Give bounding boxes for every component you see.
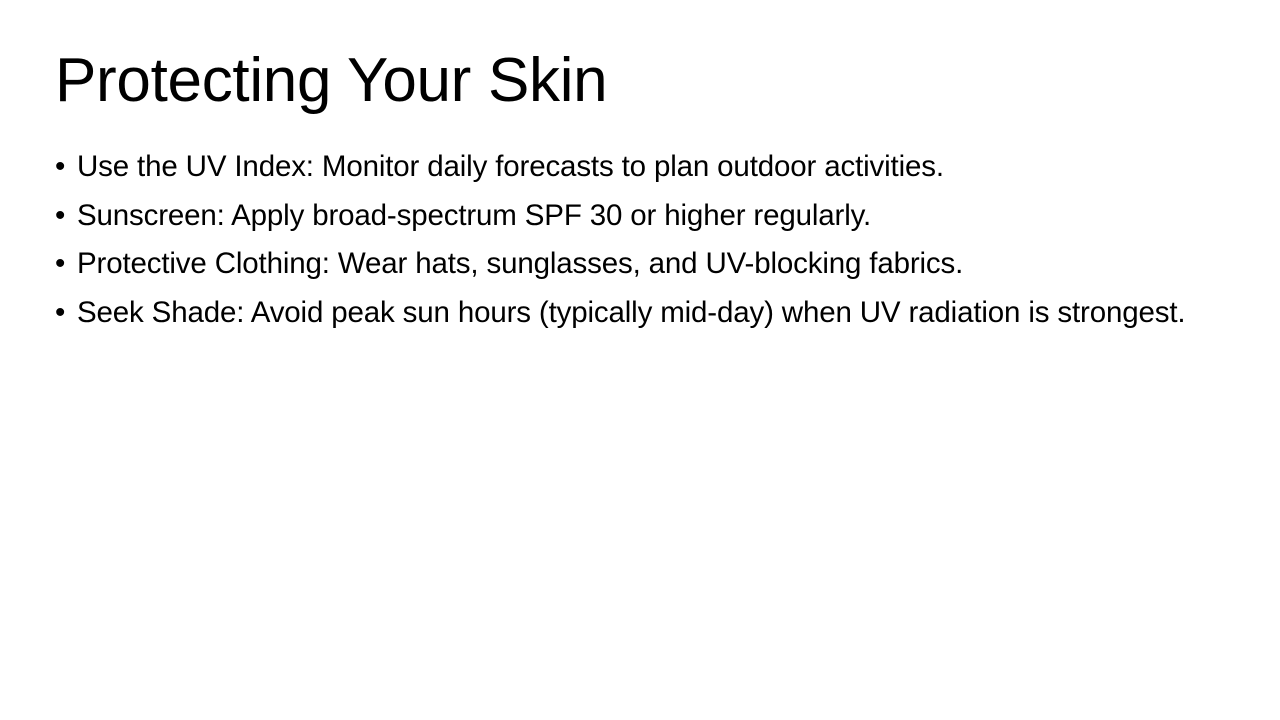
slide-canvas: Protecting Your Skin •Use the UV Index: …	[0, 0, 1280, 720]
list-item: •Protective Clothing: Wear hats, sunglas…	[55, 240, 1205, 288]
bullet-dot-icon: •	[55, 143, 77, 191]
bullet-dot-icon: •	[55, 240, 77, 288]
list-item-text: Seek Shade: Avoid peak sun hours (typica…	[77, 296, 1185, 329]
list-item-text: Sunscreen: Apply broad-spectrum SPF 30 o…	[77, 199, 871, 232]
bullet-list: •Use the UV Index: Monitor daily forecas…	[55, 143, 1205, 337]
page-title: Protecting Your Skin	[55, 48, 1225, 114]
bullet-dot-icon: •	[55, 289, 77, 337]
list-item: •Seek Shade: Avoid peak sun hours (typic…	[55, 289, 1205, 337]
bullet-dot-icon: •	[55, 192, 77, 240]
list-item-text: Use the UV Index: Monitor daily forecast…	[77, 150, 944, 183]
list-item: •Use the UV Index: Monitor daily forecas…	[55, 143, 1205, 191]
list-item: •Sunscreen: Apply broad-spectrum SPF 30 …	[55, 192, 1205, 240]
list-item-text: Protective Clothing: Wear hats, sunglass…	[77, 247, 963, 280]
